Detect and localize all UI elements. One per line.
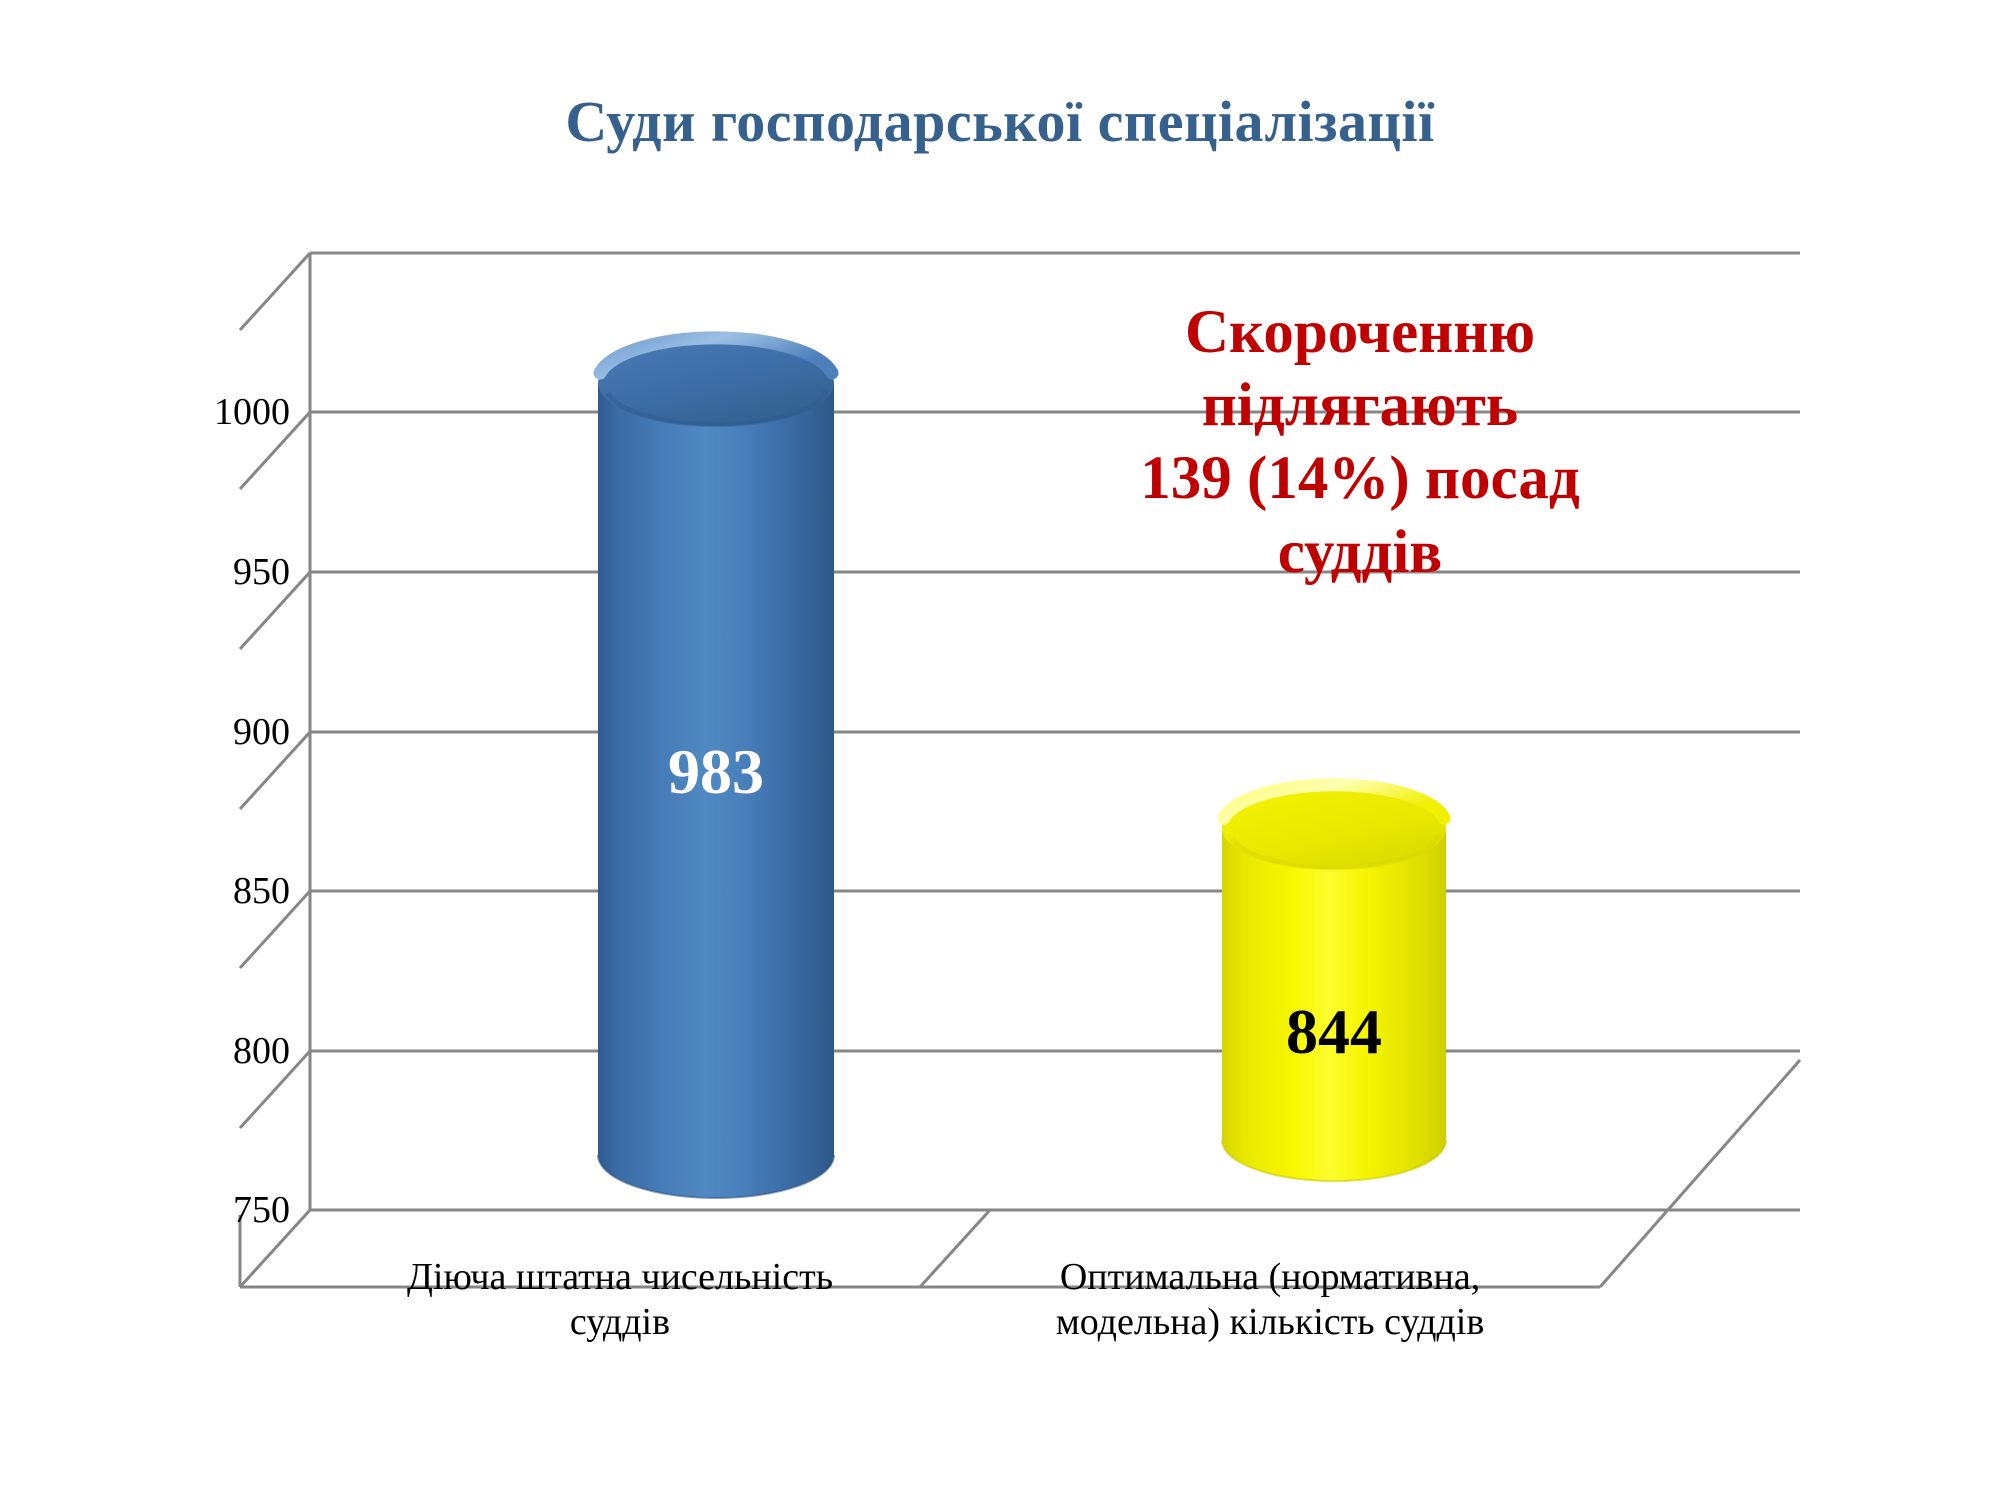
y-axis-tick-950: 950: [180, 553, 290, 591]
y-axis-tick-850: 850: [180, 872, 290, 910]
chart-canvas: Суди господарської спеціалізації: [0, 0, 2000, 1500]
reduction-annotation-line4: суддів: [1090, 516, 1630, 589]
x-axis-category-1: Діюча штатна чисельність суддів: [300, 1255, 940, 1345]
x-axis-category-2: Оптимальна (нормативна, модельна) кількі…: [940, 1255, 1600, 1345]
bar-value-label-844: 844: [1214, 1000, 1454, 1064]
y-axis-tick-1000: 1000: [180, 393, 290, 431]
x-axis-category-1-line1: Діюча штатна чисельність: [300, 1255, 940, 1300]
y-axis-tick-750: 750: [180, 1191, 290, 1229]
reduction-annotation-line1: Скороченню: [1090, 296, 1630, 369]
y-axis-tick-800: 800: [180, 1032, 290, 1070]
x-axis-category-2-line2: модельна) кількість суддів: [940, 1300, 1600, 1345]
x-axis-category-1-line2: суддів: [300, 1300, 940, 1345]
reduction-annotation: Скороченню підлягають 139 (14%) посад су…: [1090, 296, 1630, 589]
x-axis-category-2-line1: Оптимальна (нормативна,: [940, 1255, 1600, 1300]
bar-value-label-983: 983: [596, 740, 836, 804]
reduction-annotation-line3: 139 (14%) посад: [1090, 442, 1630, 515]
bar-yellow-844[interactable]: [1222, 785, 1446, 1181]
y-axis-tick-900: 900: [180, 713, 290, 751]
reduction-annotation-line2: підлягають: [1090, 369, 1630, 442]
